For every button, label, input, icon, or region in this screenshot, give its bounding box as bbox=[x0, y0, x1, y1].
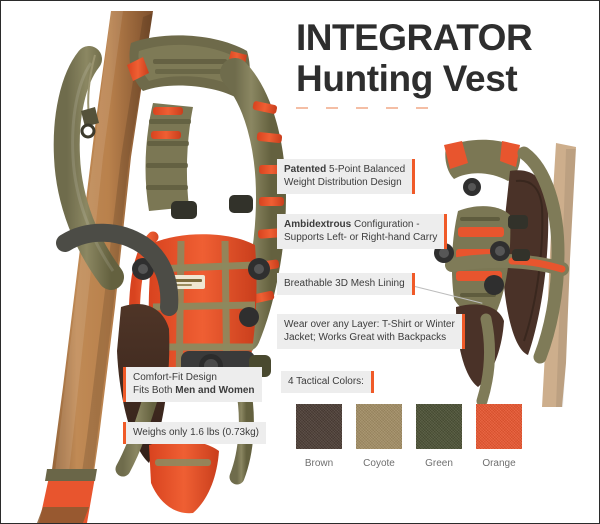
color-swatch-coyote[interactable]: Coyote bbox=[356, 404, 402, 469]
callout-mesh-lining: Breathable 3D Mesh Lining bbox=[277, 273, 415, 295]
color-swatch-orange-label: Orange bbox=[476, 458, 522, 469]
color-swatch-row: Brown Coyote Green Orange bbox=[296, 404, 522, 469]
color-swatch-orange-chip[interactable] bbox=[476, 404, 522, 449]
callout-wear-over-layer-line2: Jacket; Works Great with Backpacks bbox=[284, 331, 455, 344]
color-swatch-brown-chip[interactable] bbox=[296, 404, 342, 449]
page-title: INTEGRATOR bbox=[296, 19, 588, 56]
callout-ambidextrous: Ambidextrous Configuration - Supports Le… bbox=[277, 214, 447, 249]
colors-heading: 4 Tactical Colors: bbox=[281, 371, 374, 393]
page-subtitle: Hunting Vest bbox=[296, 58, 588, 101]
callout-ambidextrous-bold: Ambidextrous bbox=[284, 219, 351, 230]
callout-weight: Weighs only 1.6 lbs (0.73kg) bbox=[123, 422, 266, 444]
color-swatch-orange[interactable]: Orange bbox=[476, 404, 522, 469]
callout-patented-line2: Weight Distribution Design bbox=[284, 176, 405, 189]
main-vest-illustration bbox=[3, 7, 303, 523]
side-waist-strap bbox=[452, 261, 562, 269]
side-vest-yoke bbox=[444, 140, 520, 181]
color-swatch-green-chip[interactable] bbox=[416, 404, 462, 449]
callout-patented-text: 5-Point Balanced bbox=[326, 164, 405, 175]
color-swatch-green[interactable]: Green bbox=[416, 404, 462, 469]
callout-comfort-fit-line2: Fits Both bbox=[133, 385, 175, 396]
callout-ambidextrous-text: Configuration - bbox=[351, 219, 419, 230]
vest-left-molle-panel bbox=[146, 103, 193, 211]
color-swatch-coyote-chip[interactable] bbox=[356, 404, 402, 449]
vest-bottom-pocket bbox=[149, 440, 219, 513]
callout-ambidextrous-line2: Supports Left- or Right-hand Carry bbox=[284, 231, 437, 244]
callout-mesh-lining-text: Breathable 3D Mesh Lining bbox=[284, 277, 405, 290]
callout-comfort-fit-bold: Men and Women bbox=[175, 385, 254, 396]
color-swatch-brown-label: Brown bbox=[296, 458, 342, 469]
callout-patented: Patented 5-Point Balanced Weight Distrib… bbox=[277, 159, 415, 194]
color-swatch-green-label: Green bbox=[416, 458, 462, 469]
color-swatch-coyote-label: Coyote bbox=[356, 458, 402, 469]
callout-comfort-fit-text: Comfort-Fit Design bbox=[133, 371, 255, 384]
callout-patented-bold: Patented bbox=[284, 164, 326, 175]
side-vest-illustration bbox=[416, 119, 599, 409]
title-accent-dashes bbox=[296, 107, 588, 109]
product-infographic: INTEGRATOR Hunting Vest Patented 5-Point… bbox=[0, 0, 600, 524]
callout-wear-over-layer: Wear over any Layer: T-Shirt or Winter J… bbox=[277, 314, 465, 349]
color-swatch-brown[interactable]: Brown bbox=[296, 404, 342, 469]
callout-wear-over-layer-text: Wear over any Layer: T-Shirt or Winter bbox=[284, 318, 455, 331]
title-block: INTEGRATOR Hunting Vest bbox=[296, 19, 588, 109]
colors-heading-text: 4 Tactical Colors: bbox=[288, 375, 364, 388]
callout-weight-text: Weighs only 1.6 lbs (0.73kg) bbox=[133, 426, 259, 439]
callout-comfort-fit: Comfort-Fit Design Fits Both Men and Wom… bbox=[123, 367, 262, 402]
